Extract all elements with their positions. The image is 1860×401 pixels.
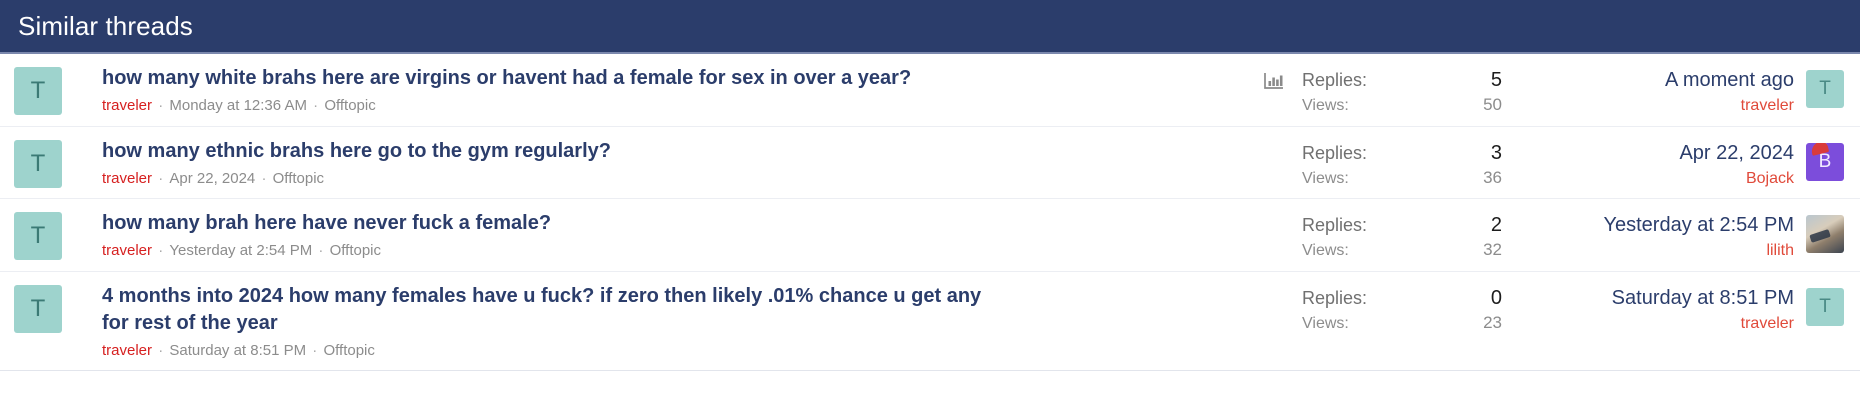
replies-value: 2 xyxy=(1491,214,1516,237)
poll-indicator-column xyxy=(1252,282,1296,313)
last-post-avatar[interactable]: T xyxy=(1806,70,1844,108)
views-label: Views: xyxy=(1302,170,1349,188)
replies-label: Replies: xyxy=(1302,143,1367,164)
avatar-letter: T xyxy=(31,222,46,250)
similar-threads-widget: Similar threads T how many white brahs h… xyxy=(0,0,1860,401)
views-label: Views: xyxy=(1302,242,1349,260)
thread-date: Apr 22, 2024 xyxy=(169,170,255,187)
byline-separator-2: · xyxy=(312,242,329,259)
avatar-letter: T xyxy=(1819,78,1831,100)
views-value: 50 xyxy=(1483,95,1516,115)
replies-label: Replies: xyxy=(1302,70,1367,91)
last-post-avatar[interactable]: B xyxy=(1806,143,1844,181)
thread-forum-link[interactable]: Offtopic xyxy=(323,342,374,359)
thread-title-link[interactable]: 4 months into 2024 how many females have… xyxy=(102,283,1002,337)
last-post-info: Apr 22, 2024 Bojack xyxy=(1516,137,1806,188)
last-post-info: Yesterday at 2:54 PM lilith xyxy=(1516,209,1806,260)
byline-separator-1: · xyxy=(152,170,169,187)
replies-label: Replies: xyxy=(1302,215,1367,236)
views-stat: Views: 50 xyxy=(1302,95,1516,115)
last-post-user-link[interactable]: traveler xyxy=(1516,314,1794,333)
thread-forum-link[interactable]: Offtopic xyxy=(273,170,324,187)
avatar-letter: T xyxy=(31,295,46,323)
replies-stat: Replies: 0 xyxy=(1302,287,1516,310)
thread-title-link[interactable]: how many ethnic brahs here go to the gym… xyxy=(102,138,1002,165)
replies-stat: Replies: 2 xyxy=(1302,214,1516,237)
last-post-date-link[interactable]: Yesterday at 2:54 PM xyxy=(1516,213,1794,238)
poll-indicator-column xyxy=(1252,209,1296,240)
thread-date: Monday at 12:36 AM xyxy=(169,97,307,114)
thread-main: 4 months into 2024 how many females have… xyxy=(62,282,1252,361)
table-row[interactable]: T how many white brahs here are virgins … xyxy=(0,54,1860,127)
thread-byline: traveler · Yesterday at 2:54 PM · Offtop… xyxy=(102,241,1252,261)
thread-author-link[interactable]: traveler xyxy=(102,97,152,114)
byline-separator-2: · xyxy=(307,97,324,114)
avatar-letter: T xyxy=(31,150,46,178)
avatar[interactable]: T xyxy=(14,212,62,260)
views-value: 32 xyxy=(1483,240,1516,260)
views-stat: Views: 36 xyxy=(1302,168,1516,188)
thread-author-link[interactable]: traveler xyxy=(102,242,152,259)
avatar[interactable]: T xyxy=(14,67,62,115)
bar-chart-icon xyxy=(1264,72,1284,95)
thread-list: T how many white brahs here are virgins … xyxy=(0,54,1860,371)
thread-date: Yesterday at 2:54 PM xyxy=(169,242,312,259)
thread-main: how many white brahs here are virgins or… xyxy=(62,64,1252,116)
last-post-avatar[interactable] xyxy=(1806,215,1844,253)
poll-indicator-column xyxy=(1252,137,1296,168)
views-label: Views: xyxy=(1302,315,1349,333)
views-value: 36 xyxy=(1483,168,1516,188)
replies-stat: Replies: 5 xyxy=(1302,69,1516,92)
page-title: Similar threads xyxy=(18,13,193,39)
byline-separator-2: · xyxy=(255,170,272,187)
views-stat: Views: 23 xyxy=(1302,313,1516,333)
table-row[interactable]: T how many ethnic brahs here go to the g… xyxy=(0,127,1860,200)
last-post-user-link[interactable]: lilith xyxy=(1516,241,1794,260)
replies-stat: Replies: 3 xyxy=(1302,142,1516,165)
byline-separator-1: · xyxy=(152,342,169,359)
thread-byline: traveler · Monday at 12:36 AM · Offtopic xyxy=(102,96,1252,116)
thread-main: how many brah here have never fuck a fem… xyxy=(62,209,1252,261)
last-post-date-link[interactable]: A moment ago xyxy=(1516,68,1794,93)
avatar[interactable]: T xyxy=(14,140,62,188)
table-row[interactable]: T 4 months into 2024 how many females ha… xyxy=(0,272,1860,372)
thread-forum-link[interactable]: Offtopic xyxy=(324,97,375,114)
byline-separator-2: · xyxy=(306,342,323,359)
views-stat: Views: 32 xyxy=(1302,240,1516,260)
thread-date: Saturday at 8:51 PM xyxy=(169,342,306,359)
last-post-date-link[interactable]: Apr 22, 2024 xyxy=(1516,141,1794,166)
thread-byline: traveler · Apr 22, 2024 · Offtopic xyxy=(102,169,1252,189)
byline-separator-1: · xyxy=(152,97,169,114)
last-post-info: Saturday at 8:51 PM traveler xyxy=(1516,282,1806,333)
last-post-avatar[interactable]: T xyxy=(1806,288,1844,326)
widget-header: Similar threads xyxy=(0,0,1860,54)
poll-indicator-column xyxy=(1252,64,1296,95)
thread-stats: Replies: 0 Views: 23 xyxy=(1296,282,1516,333)
thread-byline: traveler · Saturday at 8:51 PM · Offtopi… xyxy=(102,341,1252,361)
thread-forum-link[interactable]: Offtopic xyxy=(330,242,381,259)
avatar-letter: T xyxy=(31,77,46,105)
replies-value: 0 xyxy=(1491,287,1516,310)
thread-title-link[interactable]: how many white brahs here are virgins or… xyxy=(102,65,1002,92)
thread-author-link[interactable]: traveler xyxy=(102,170,152,187)
last-post-user-link[interactable]: traveler xyxy=(1516,96,1794,115)
last-post-user-link[interactable]: Bojack xyxy=(1516,169,1794,188)
thread-stats: Replies: 5 Views: 50 xyxy=(1296,64,1516,115)
avatar[interactable]: T xyxy=(14,285,62,333)
thread-stats: Replies: 3 Views: 36 xyxy=(1296,137,1516,188)
avatar-letter: T xyxy=(1819,296,1831,318)
last-post-date-link[interactable]: Saturday at 8:51 PM xyxy=(1516,286,1794,311)
thread-title-link[interactable]: how many brah here have never fuck a fem… xyxy=(102,210,1002,237)
replies-value: 3 xyxy=(1491,142,1516,165)
byline-separator-1: · xyxy=(152,242,169,259)
replies-value: 5 xyxy=(1491,69,1516,92)
views-label: Views: xyxy=(1302,97,1349,115)
thread-stats: Replies: 2 Views: 32 xyxy=(1296,209,1516,260)
thread-main: how many ethnic brahs here go to the gym… xyxy=(62,137,1252,189)
replies-label: Replies: xyxy=(1302,288,1367,309)
table-row[interactable]: T how many brah here have never fuck a f… xyxy=(0,199,1860,272)
thread-author-link[interactable]: traveler xyxy=(102,342,152,359)
views-value: 23 xyxy=(1483,313,1516,333)
last-post-info: A moment ago traveler xyxy=(1516,64,1806,115)
